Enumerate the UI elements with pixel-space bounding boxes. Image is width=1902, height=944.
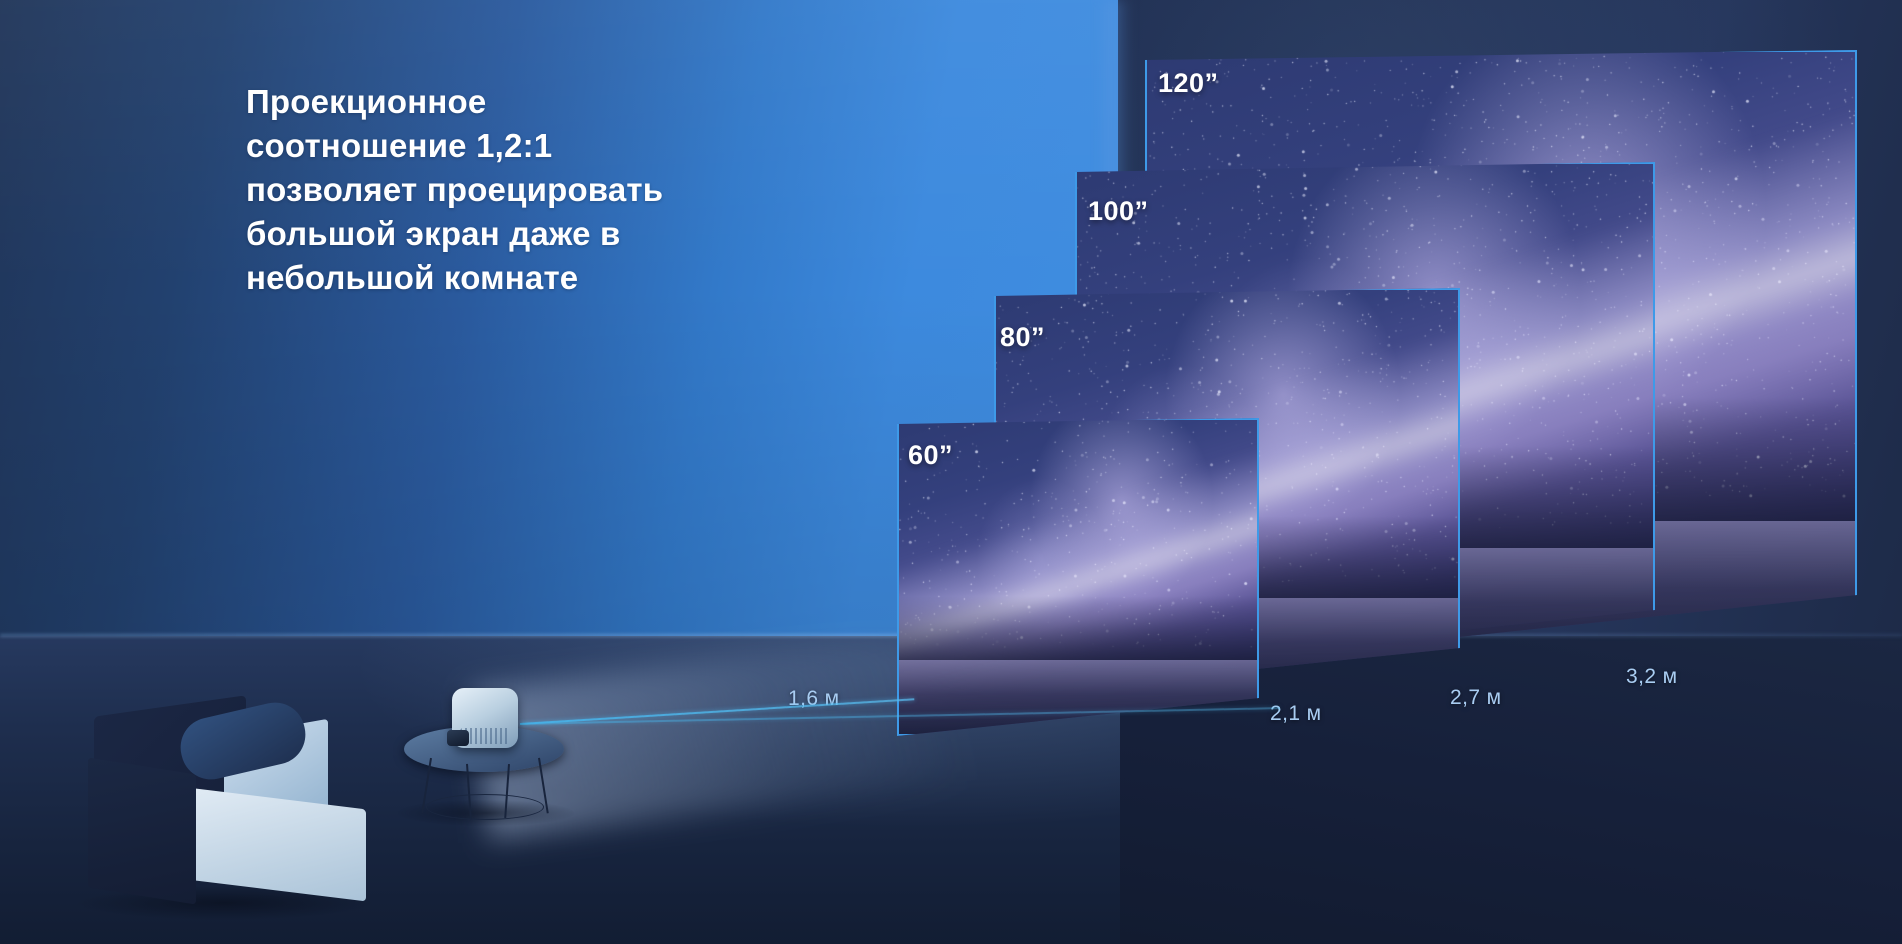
armchair: [84, 706, 364, 912]
distance-label-100: 2,7 м: [1450, 686, 1501, 710]
side-table-ring: [426, 794, 544, 820]
armchair-arm-near: [88, 757, 196, 904]
distance-label-120: 3,2 м: [1626, 665, 1677, 689]
armchair-seat: [180, 787, 366, 902]
projection-ratio-banner: Проекционное соотношение 1,2:1 позволяет…: [0, 0, 1902, 944]
screen-size-label-100: 100”: [1088, 196, 1149, 227]
headline-line-2: соотношение 1,2:1: [246, 124, 886, 168]
headline-line-1: Проекционное: [246, 80, 886, 124]
projector: [452, 688, 518, 748]
projector-lens: [447, 730, 469, 746]
headline-line-4: большой экран даже в: [246, 212, 886, 256]
screen-size-label-120: 120”: [1158, 68, 1219, 99]
headline-line-3: позволяет проецировать: [246, 168, 886, 212]
headline-line-5: небольшой комнате: [246, 256, 886, 300]
distance-label-60: 1,6 м: [788, 687, 839, 711]
distance-label-80: 2,1 м: [1270, 702, 1321, 726]
page-title: Проекционное соотношение 1,2:1 позволяет…: [246, 80, 886, 300]
screen-size-label-80: 80”: [1000, 322, 1045, 353]
screen-size-label-60: 60”: [908, 440, 953, 471]
